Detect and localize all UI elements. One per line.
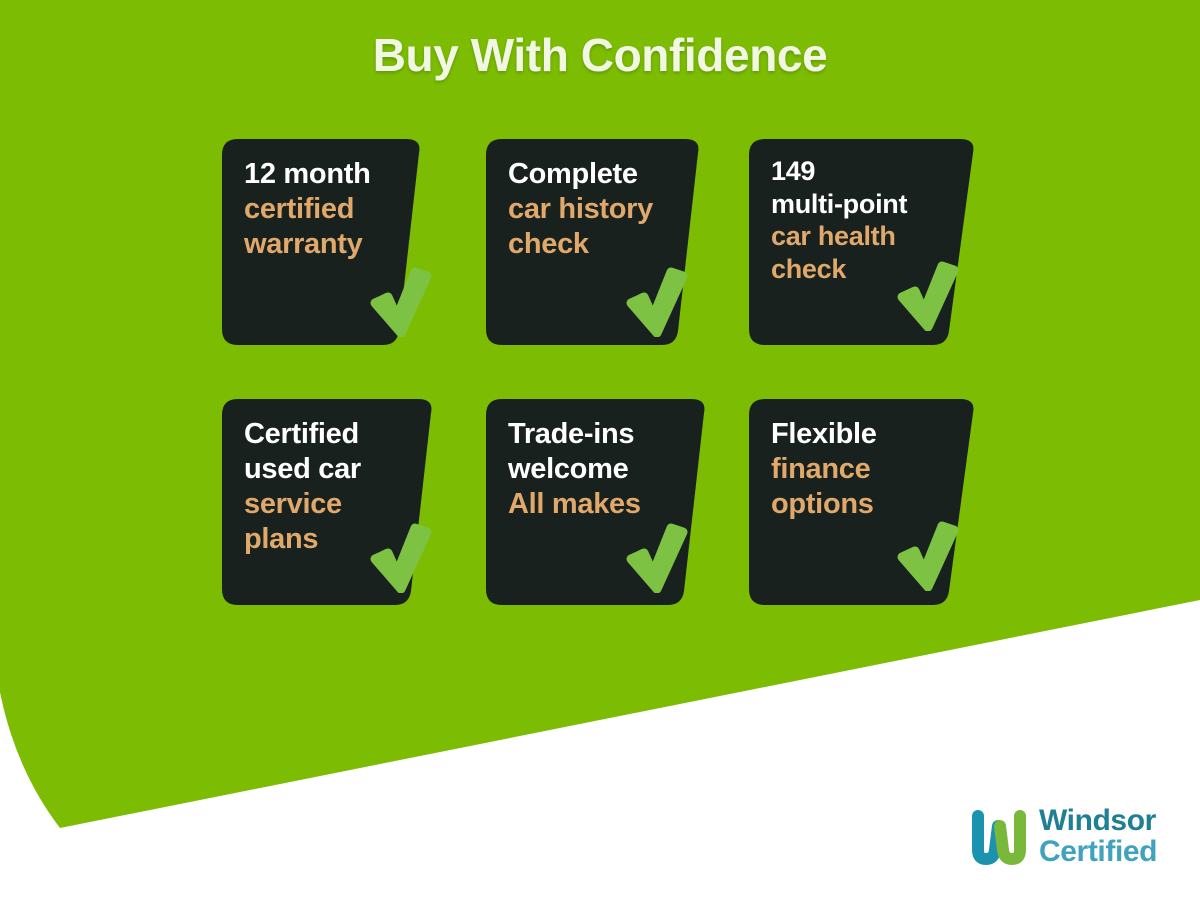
check-mark-icon xyxy=(370,523,432,593)
feature-card-service-plans[interactable]: Certified used car service plans xyxy=(222,399,472,605)
card-line-accent: service xyxy=(244,487,444,522)
card-line-primary: welcome xyxy=(508,452,708,487)
card-line-accent: car health xyxy=(771,220,981,253)
confidence-banner: Buy With Confidence 12 month certified w… xyxy=(0,0,1200,900)
page-title: Buy With Confidence xyxy=(0,28,1200,82)
card-line-primary: used car xyxy=(244,452,444,487)
card-line-accent: options xyxy=(771,487,971,522)
feature-card-warranty[interactable]: 12 month certified warranty xyxy=(222,139,472,345)
card-line-accent: certified xyxy=(244,192,444,227)
feature-card-finance[interactable]: Flexible finance options xyxy=(749,399,999,605)
feature-card-multi-point[interactable]: 149 multi-point car health check xyxy=(749,139,999,345)
card-line-primary: Certified xyxy=(244,417,444,452)
card-text: Flexible finance options xyxy=(771,417,971,522)
card-text: 12 month certified warranty xyxy=(244,157,444,262)
windsor-w-mark-icon xyxy=(968,806,1030,868)
check-mark-icon xyxy=(370,267,432,337)
card-line-accent: car history xyxy=(508,192,708,227)
check-mark-icon xyxy=(626,267,688,337)
logo-word-certified: Certified xyxy=(1039,837,1157,868)
feature-card-history-check[interactable]: Complete car history check xyxy=(486,139,736,345)
card-line-accent: warranty xyxy=(244,227,444,262)
card-line-primary: multi-point xyxy=(771,188,981,221)
logo-word-windsor: Windsor xyxy=(1039,806,1157,837)
windsor-certified-logo[interactable]: Windsor Certified xyxy=(968,806,1157,868)
card-line-accent: check xyxy=(508,227,708,262)
card-line-primary: 149 xyxy=(771,155,981,188)
card-text: Trade-ins welcome All makes xyxy=(508,417,708,522)
check-mark-icon xyxy=(897,261,959,331)
card-line-primary: Complete xyxy=(508,157,708,192)
card-line-primary: Trade-ins xyxy=(508,417,708,452)
card-line-accent: finance xyxy=(771,452,971,487)
check-mark-icon xyxy=(897,521,959,591)
feature-card-trade-ins[interactable]: Trade-ins welcome All makes xyxy=(486,399,736,605)
card-line-primary: 12 month xyxy=(244,157,444,192)
card-line-accent: All makes xyxy=(508,487,708,522)
card-line-primary: Flexible xyxy=(771,417,971,452)
card-text: Complete car history check xyxy=(508,157,708,262)
check-mark-icon xyxy=(626,523,688,593)
feature-card-grid: 12 month certified warranty Complete car… xyxy=(0,0,1200,900)
logo-wordmark: Windsor Certified xyxy=(1039,806,1157,867)
